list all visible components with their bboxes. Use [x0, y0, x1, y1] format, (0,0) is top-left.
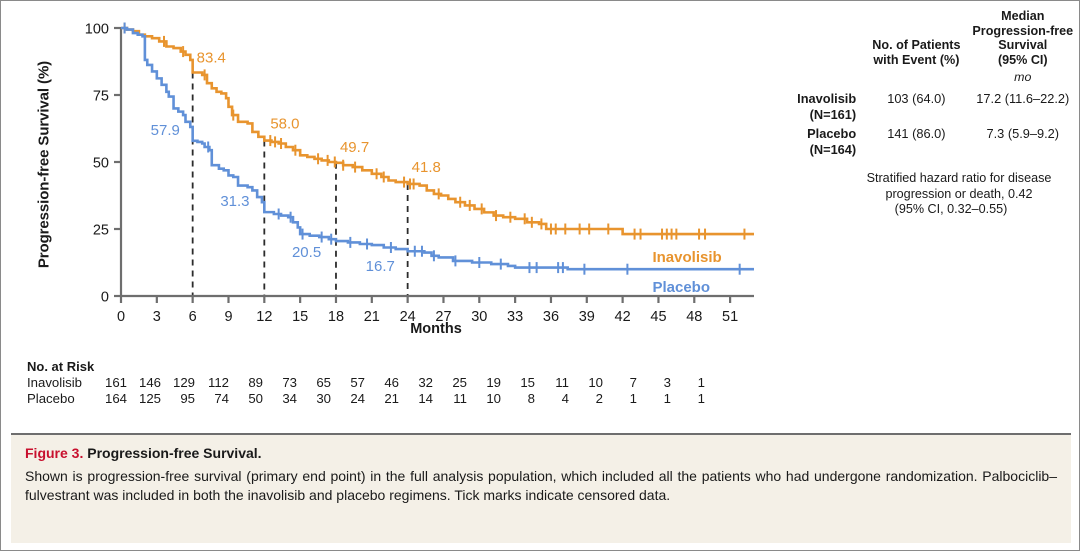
stats-header-row: No. of Patients with Event (%) Median Pr… — [796, 9, 1076, 67]
stats-group-n: (N=164) — [796, 142, 856, 158]
caption-figure-number: Figure 3. — [25, 445, 83, 461]
risk-value: 129 — [161, 375, 195, 391]
risk-value: 8 — [501, 391, 535, 407]
annotation-placebo-18: 20.5 — [292, 244, 321, 261]
series-label-inavolisib: Inavolisib — [652, 249, 721, 266]
stats-unit-blank1 — [796, 67, 863, 87]
hazard-line-3: (95% CI, 0.32–0.55) — [826, 202, 1076, 218]
risk-value: 65 — [297, 375, 331, 391]
risk-value: 2 — [569, 391, 603, 407]
risk-value: 1 — [637, 391, 671, 407]
y-tick-label: 75 — [93, 89, 109, 105]
caption-body: Shown is progression-free survival (prim… — [25, 467, 1057, 504]
stats-median-value: 7.3 (5.9–9.2) — [970, 122, 1076, 157]
stats-group-label: Placebo(N=164) — [796, 122, 863, 157]
stats-events-value: 141 (86.0) — [863, 122, 969, 157]
statistics-panel: No. of Patients with Event (%) Median Pr… — [796, 9, 1076, 218]
stats-header-median-line2: Progression-free — [970, 24, 1076, 39]
risk-value: 146 — [127, 375, 161, 391]
stats-group-label: Inavolisib(N=161) — [796, 87, 863, 122]
risk-value: 3 — [637, 375, 671, 391]
stats-header-median-line3: Survival — [970, 38, 1076, 53]
x-axis-title: Months — [116, 321, 756, 337]
stats-median-value: 17.2 (11.6–22.2) — [970, 87, 1076, 122]
annotation-inavolisib-18: 49.7 — [340, 139, 369, 156]
annotation-inavolisib-6: 83.4 — [197, 49, 226, 66]
risk-table-grid: Inavolisib161146129112897365574632251915… — [27, 375, 705, 407]
risk-row-label: Placebo — [27, 391, 93, 407]
y-tick-label: 25 — [93, 223, 109, 239]
risk-value: 95 — [161, 391, 195, 407]
risk-value: 25 — [433, 375, 467, 391]
stats-row: Placebo(N=164)141 (86.0)7.3 (5.9–9.2) — [796, 122, 1076, 157]
risk-value: 89 — [229, 375, 263, 391]
risk-value: 11 — [433, 391, 467, 407]
risk-value: 4 — [535, 391, 569, 407]
km-plot-svg: 0255075100036912151821242730333639424548… — [1, 1, 801, 351]
risk-value: 15 — [501, 375, 535, 391]
annotation-placebo-24: 16.7 — [366, 258, 395, 275]
risk-value: 10 — [569, 375, 603, 391]
stats-events-value: 103 (64.0) — [863, 87, 969, 122]
risk-value: 11 — [535, 375, 569, 391]
risk-value: 57 — [331, 375, 365, 391]
annotation-placebo-12: 31.3 — [220, 193, 249, 210]
risk-value: 14 — [399, 391, 433, 407]
stats-group-n: (N=161) — [796, 107, 856, 123]
risk-value: 30 — [297, 391, 331, 407]
stats-header-blank — [796, 9, 863, 67]
y-tick-label: 50 — [93, 156, 109, 172]
caption-title-line: Figure 3. Progression-free Survival. — [25, 444, 1057, 462]
risk-value: 1 — [603, 391, 637, 407]
risk-value: 112 — [195, 375, 229, 391]
y-tick-label: 100 — [85, 22, 109, 38]
stats-row: Inavolisib(N=161)103 (64.0)17.2 (11.6–22… — [796, 87, 1076, 122]
stats-unit-blank2 — [863, 67, 969, 87]
risk-table-title: No. at Risk — [27, 359, 705, 374]
stats-group-name: Placebo — [796, 126, 856, 142]
risk-value: 32 — [399, 375, 433, 391]
y-tick-label: 0 — [101, 290, 109, 306]
risk-table-row: Inavolisib161146129112897365574632251915… — [27, 375, 705, 391]
stats-header-median-line4: (95% CI) — [970, 53, 1076, 68]
caption-title-text: Progression-free Survival. — [87, 445, 261, 461]
risk-value: 7 — [603, 375, 637, 391]
figure-container: 0255075100036912151821242730333639424548… — [0, 0, 1080, 551]
annotations-group: 83.458.049.741.857.931.320.516.7 — [151, 49, 441, 275]
stats-unit-mo: mo — [970, 67, 1076, 87]
hazard-line-2: progression or death, 0.42 — [842, 187, 1076, 203]
stats-header-events: No. of Patients with Event (%) — [863, 9, 969, 67]
risk-value: 73 — [263, 375, 297, 391]
annotation-inavolisib-12: 58.0 — [270, 116, 299, 133]
stats-group-name: Inavolisib — [796, 91, 856, 107]
risk-value: 34 — [263, 391, 297, 407]
series-labels-group: InavolisibPlacebo — [652, 249, 721, 296]
hazard-ratio-note: Stratified hazard ratio for disease prog… — [796, 171, 1076, 218]
risk-value: 125 — [127, 391, 161, 407]
statistics-table: No. of Patients with Event (%) Median Pr… — [796, 9, 1076, 157]
risk-value: 164 — [93, 391, 127, 407]
annotation-placebo-6: 57.9 — [151, 122, 180, 139]
risk-value: 46 — [365, 375, 399, 391]
stats-header-events-line2: with Event (%) — [863, 53, 969, 68]
risk-value: 74 — [195, 391, 229, 407]
risk-table-row: Placebo16412595745034302421141110842111 — [27, 391, 705, 407]
km-plot: 0255075100036912151821242730333639424548… — [1, 1, 801, 351]
risk-value: 10 — [467, 391, 501, 407]
stats-header-events-line1: No. of Patients — [863, 38, 969, 53]
risk-value: 19 — [467, 375, 501, 391]
stats-header-median-line1: Median — [970, 9, 1076, 24]
risk-value: 1 — [671, 375, 705, 391]
hazard-line-1: Stratified hazard ratio for disease — [842, 171, 1076, 187]
stats-unit-row: mo — [796, 67, 1076, 87]
risk-value: 24 — [331, 391, 365, 407]
y-axis-title: Progression-free Survival (%) — [36, 30, 53, 300]
risk-value: 50 — [229, 391, 263, 407]
series-label-placebo: Placebo — [652, 279, 710, 296]
annotation-inavolisib-24: 41.8 — [412, 159, 441, 176]
risk-value: 21 — [365, 391, 399, 407]
risk-value: 1 — [671, 391, 705, 407]
risk-row-label: Inavolisib — [27, 375, 93, 391]
risk-value: 161 — [93, 375, 127, 391]
stats-header-median: Median Progression-free Survival (95% CI… — [970, 9, 1076, 67]
figure-caption: Figure 3. Progression-free Survival. Sho… — [11, 433, 1071, 543]
number-at-risk-table: No. at Risk Inavolisib161146129112897365… — [27, 359, 705, 407]
